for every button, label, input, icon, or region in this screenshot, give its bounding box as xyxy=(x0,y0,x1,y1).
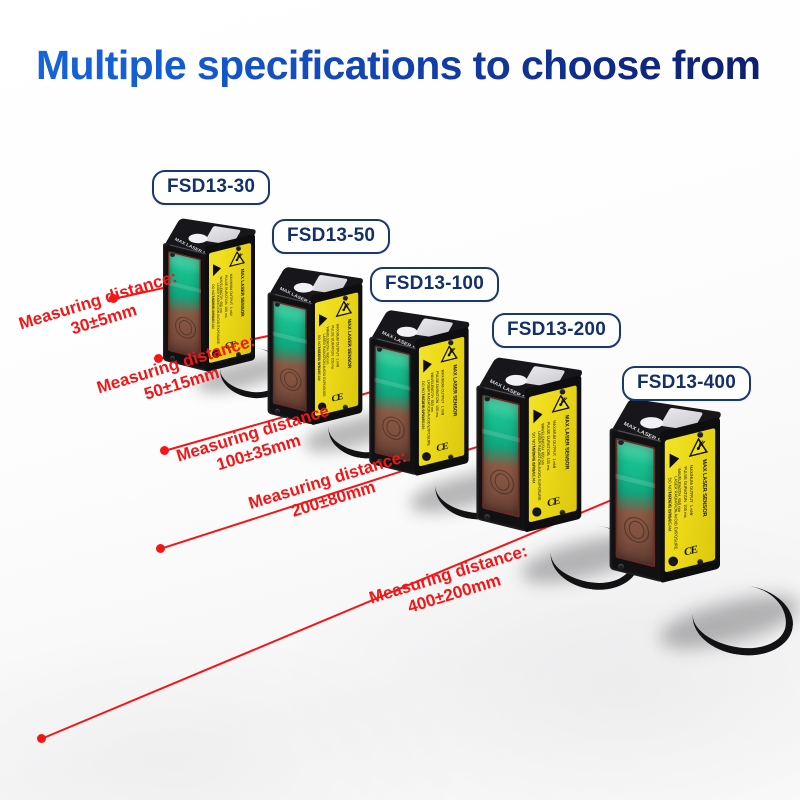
label-product-text-fsd13-200: MAX LASER SENSOR xyxy=(564,414,570,470)
mounting-screw-fsd13-200-3 xyxy=(560,510,566,516)
lens-window-fsd13-100 xyxy=(375,345,411,462)
connector-port-fsd13-200 xyxy=(532,507,541,516)
page-title: Multiple specifications to choose from xyxy=(36,44,776,87)
caution-row-1: LASER RADIATION AVOID EXPOSURE xyxy=(215,282,220,344)
caution-row-1: LASER RADIATION AVOID EXPOSURE xyxy=(536,430,542,501)
laser-hazard-icon-fsd13-50 xyxy=(336,299,352,318)
warning-label-fsd13-100: MAX LASER SENSORMAXIMUM OUTPUT 1 mWPULSE… xyxy=(419,336,464,466)
lens-window-fsd13-200 xyxy=(482,394,520,517)
spec-row-1: MAXIMUM OUTPUT 1 mW xyxy=(228,273,233,317)
spec-row-2: PULSE DURATION 100 ms xyxy=(223,275,228,319)
label-origin-fsd13-50: MADE IN CHINA xyxy=(317,347,321,373)
spec-row-2: PULSE DURATION 100 ms xyxy=(545,421,551,471)
warning-label-fsd13-200: MAX LASER SENSORMAXIMUM OUTPUT 1 mWPULSE… xyxy=(529,385,577,522)
mounting-screw-fsd13-400-2 xyxy=(697,432,703,438)
caution-row-1: LASER RADIATION AVOID EXPOSURE xyxy=(672,476,678,551)
lens-highlight-fsd13-200 xyxy=(482,429,520,443)
model-badge-fsd13-200: FSD13-200 xyxy=(492,313,621,348)
mounting-screw-fsd13-400-1 xyxy=(618,564,624,570)
connector-port-fsd13-400 xyxy=(668,557,678,567)
model-badge-fsd13-400: FSD13-400 xyxy=(622,366,751,401)
mounting-screw-fsd13-200-2 xyxy=(560,389,566,395)
sensor-body-fsd13-200: MAX LASER SENSORMAX LASER SENSORMAXIMUM … xyxy=(475,362,584,533)
mounting-screw-fsd13-50-0 xyxy=(275,302,280,307)
ce-mark-fsd13-200: CE xyxy=(547,494,559,508)
direction-arrow-fsd13-50 xyxy=(319,312,327,326)
laser-endpoint-dot-fsd13-400 xyxy=(37,734,46,743)
sensor-unit-fsd13-50: MAX LASER SENSORMAX LASER SENSORMAXIMUM … xyxy=(267,271,366,426)
mounting-screw-fsd13-100-2 xyxy=(448,340,453,345)
label-product-text-fsd13-100: MAX LASER SENSOR xyxy=(452,364,457,417)
mounting-screw-fsd13-100-0 xyxy=(377,346,382,351)
direction-arrow-fsd13-200 xyxy=(533,407,542,423)
mounting-screw-fsd13-200-0 xyxy=(484,396,490,402)
direction-arrow-fsd13-30 xyxy=(213,262,221,276)
spec-row-1: MAXIMUM OUTPUT 1 mW xyxy=(334,324,339,369)
label-origin-fsd13-100: MADE IN CHINA xyxy=(421,394,425,421)
label-product-text-fsd13-30: MAX LASER SENSOR xyxy=(240,268,245,317)
product-spec-image: Multiple specifications to choose from M… xyxy=(0,0,800,800)
warning-label-fsd13-400: MAX LASER SENSORMAXIMUM OUTPUT 1 mWPULSE… xyxy=(665,428,715,573)
spec-row-2: PULSE DURATION 100 ms xyxy=(329,325,334,370)
label-origin-fsd13-30: MADE IN CHINA xyxy=(211,296,215,321)
spec-row-1: MAXIMUM OUTPUT 1 mW xyxy=(439,369,445,416)
laser-hazard-icon-fsd13-400 xyxy=(689,436,708,458)
direction-arrow-fsd13-400 xyxy=(670,451,680,468)
mounting-screw-fsd13-400-0 xyxy=(618,439,624,445)
mounting-screw-fsd13-400-3 xyxy=(697,559,703,565)
model-badge-fsd13-30: FSD13-30 xyxy=(152,170,270,205)
sensor-body-fsd13-50: MAX LASER SENSORMAX LASER SENSORMAXIMUM … xyxy=(267,271,366,426)
sensor-unit-fsd13-400: MAX LASER SENSORMAX LASER SENSORMAXIMUM … xyxy=(608,403,723,583)
laser-hazard-icon-fsd13-100 xyxy=(441,343,458,362)
label-origin-fsd13-400: MADE IN CHINA xyxy=(667,491,672,521)
spec-row-1: MAXIMUM OUTPUT 1 mW xyxy=(687,465,693,518)
model-badge-fsd13-50: FSD13-50 xyxy=(272,219,390,254)
caution-row-1: LASER RADIATION AVOID EXPOSURE xyxy=(425,379,431,446)
ce-mark-fsd13-100: CE xyxy=(436,440,447,454)
lens-window-fsd13-50 xyxy=(273,301,307,412)
mounting-screw-fsd13-50-1 xyxy=(275,409,280,414)
mounting-screw-fsd13-30-2 xyxy=(236,246,241,251)
mounting-screw-fsd13-50-2 xyxy=(343,295,348,300)
sensor-body-fsd13-400: MAX LASER SENSORMAX LASER SENSORMAXIMUM … xyxy=(608,403,723,583)
mounting-screw-fsd13-200-1 xyxy=(484,514,490,520)
label-origin-fsd13-200: MADE IN CHINA xyxy=(531,446,536,475)
lens-highlight-fsd13-100 xyxy=(375,378,411,391)
mounting-screw-fsd13-100-3 xyxy=(448,454,453,459)
sensor-unit-fsd13-200: MAX LASER SENSORMAX LASER SENSORMAXIMUM … xyxy=(475,362,584,533)
lens-highlight-fsd13-400 xyxy=(616,474,656,489)
mounting-screw-fsd13-30-0 xyxy=(170,252,175,257)
caution-row-1: LASER RADIATION AVOID EXPOSURE xyxy=(321,333,326,397)
direction-arrow-fsd13-100 xyxy=(423,357,432,372)
label-product-text-fsd13-50: MAX LASER SENSOR xyxy=(347,318,352,368)
lens-window-fsd13-400 xyxy=(616,438,656,568)
spec-row-2: PULSE DURATION 100 ms xyxy=(681,466,687,519)
model-badge-fsd13-100: FSD13-100 xyxy=(370,267,499,302)
laser-endpoint-dot-fsd13-200 xyxy=(156,544,165,553)
label-product-text-fsd13-400: MAX LASER SENSOR xyxy=(702,459,708,518)
laser-hazard-icon-fsd13-200 xyxy=(552,393,570,414)
laser-hazard-icon-fsd13-30 xyxy=(229,249,245,267)
ce-mark-fsd13-400: CE xyxy=(684,543,697,558)
lens-highlight-fsd13-50 xyxy=(273,331,307,344)
spec-row-2: PULSE DURATION 100 ms xyxy=(434,371,440,418)
spec-row-1: MAXIMUM OUTPUT 1 mW xyxy=(550,420,556,470)
